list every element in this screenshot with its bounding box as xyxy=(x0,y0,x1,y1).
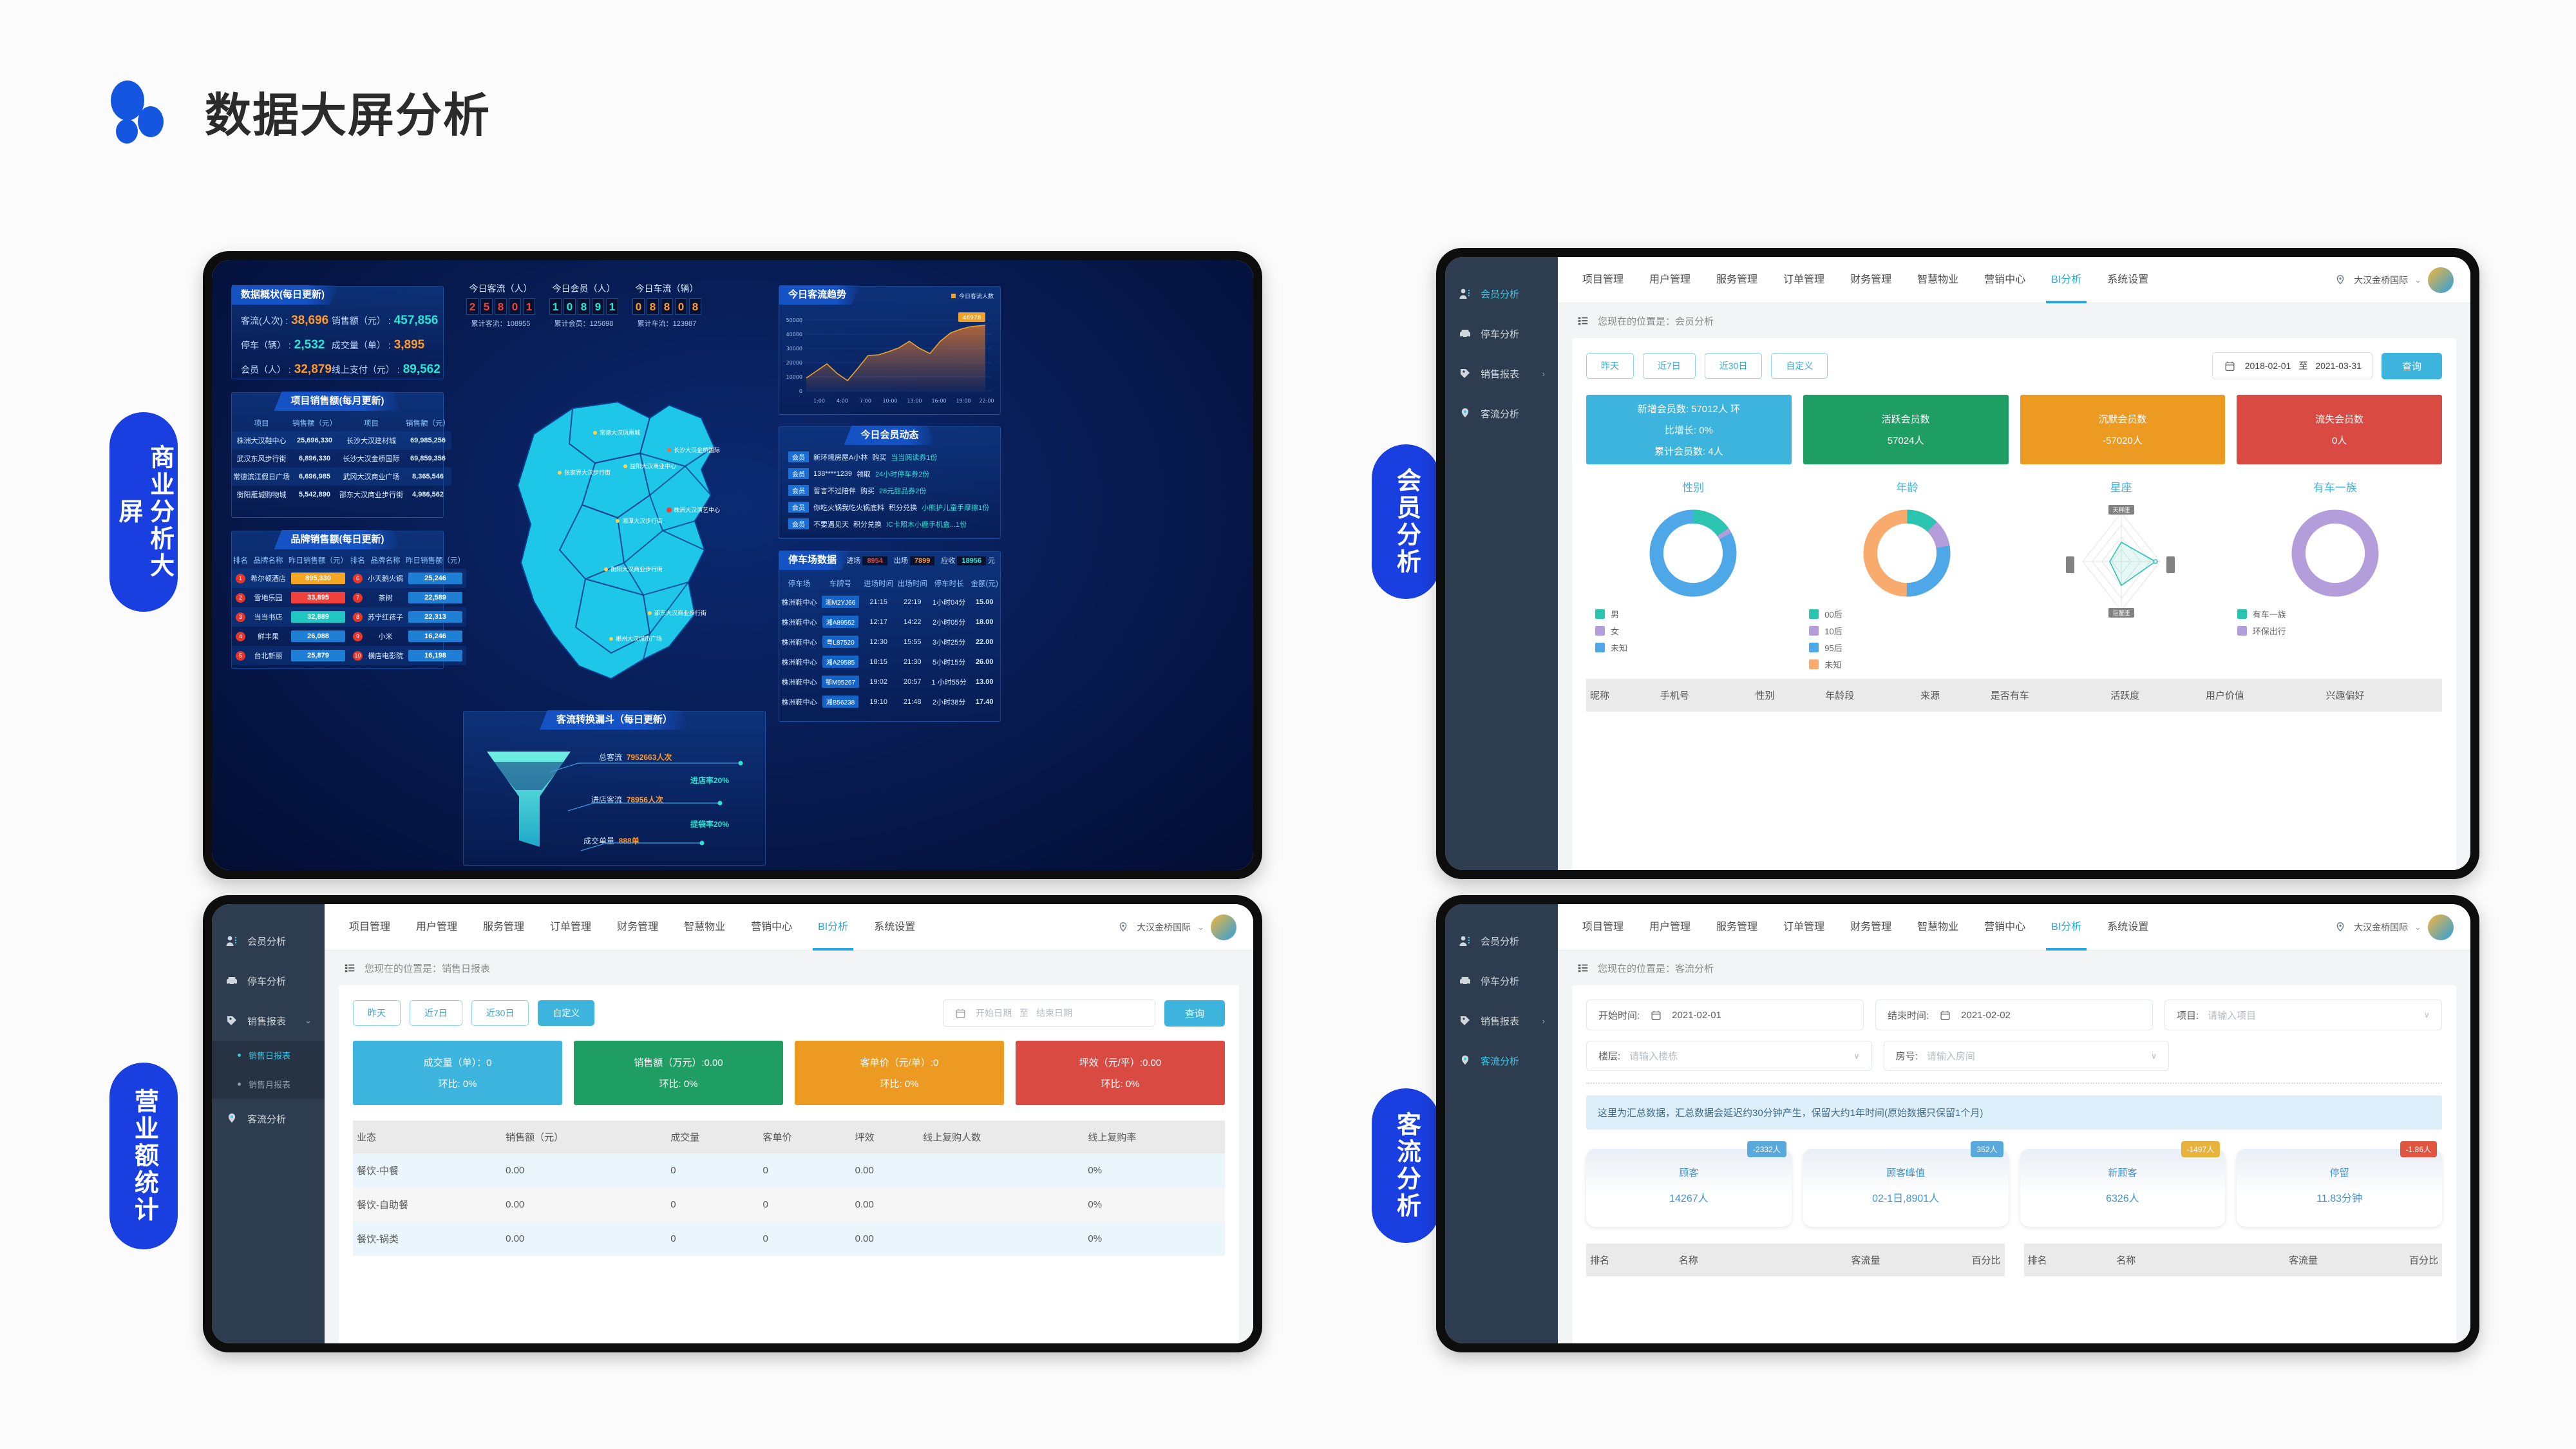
table-row: 株洲鞋中心湘M2YJ6621:1522:191小时04分15.00 xyxy=(779,592,1000,612)
stat-card-sales-amount: 销售额（万元）:0.00 环比: 0% xyxy=(574,1041,783,1105)
nav-item-project[interactable]: 项目管理 xyxy=(336,904,403,951)
bi-funnel-title: 客流转换漏斗（每日更新） xyxy=(540,710,689,730)
stat-card-active-members: 活跃会员数 57024人 xyxy=(1803,395,2009,464)
svg-text:益阳大汉商业中心: 益阳大汉商业中心 xyxy=(630,462,676,470)
chevron-down-icon: ∨ xyxy=(1853,1051,1860,1061)
range-button-30days[interactable]: 近30日 xyxy=(471,1000,529,1026)
svg-text:10000: 10000 xyxy=(786,374,802,380)
parking-table: 停车场车牌号进场时间 出场时间停车时长金额(元) 株洲鞋中心湘M2YJ6621:… xyxy=(779,575,1000,712)
stat-card-lost-members: 流失会员数 0人 xyxy=(2237,395,2442,464)
breadcrumb-text: 您现在的位置是：客流分析 xyxy=(1598,961,1714,975)
project-sales-table: 项目 销售额（元） 项目 销售额（元） 株洲大汉鞋中心25,696,330长沙大… xyxy=(232,415,451,504)
page-title: 数据大屏分析 xyxy=(205,77,491,145)
bi-project-sales-card: 项目销售额(每月更新) 项目 销售额（元） 项目 销售额（元） 株洲大汉鞋中心2… xyxy=(231,392,444,518)
sales-report-screen: 会员分析 停车分析 销售报表 ⌄ 销售日报表 xyxy=(212,904,1253,1343)
bi-overview-title: 数据概状(每日更新) xyxy=(232,285,339,305)
nav-item-user[interactable]: 用户管理 xyxy=(403,904,470,951)
svg-text:30000: 30000 xyxy=(786,346,802,352)
pin-icon xyxy=(1458,406,1472,421)
chevron-down-icon[interactable]: ⌄ xyxy=(2414,922,2421,933)
chip-enter: 进场8954 xyxy=(846,555,889,565)
location-pin-icon xyxy=(1116,920,1130,934)
nav-item-marketing[interactable]: 营销中心 xyxy=(738,904,805,951)
table-row: 株洲鞋中心湘A8956212:1714:222小时05分18.00 xyxy=(779,612,1000,632)
counter-today-vehicles: 今日车流（辆） 08808 累计车流：123987 xyxy=(632,282,701,328)
bi-parking-title: 停车场数据 xyxy=(779,551,851,570)
range-button-yesterday[interactable]: 昨天 xyxy=(1586,353,1634,379)
chevron-down-icon[interactable]: ⌄ xyxy=(1197,922,1204,933)
nav-item-finance[interactable]: 财务管理 xyxy=(1837,257,1904,303)
traffic-rank-table-right: 排名名称 客流量百分比 xyxy=(2024,1244,2443,1276)
sales-topbar: 项目管理 用户管理 服务管理 订单管理 财务管理 智慧物业 营销中心 BI分析 … xyxy=(325,904,1253,951)
sidebar-item-label: 停车分析 xyxy=(1481,974,1519,988)
stat-card-silent-members: 沉默会员数 -57020人 xyxy=(2020,395,2226,464)
chart-car-owner: 有车一族 有车一族 环保出行 xyxy=(2228,478,2442,675)
divider xyxy=(1586,1083,2442,1084)
svg-text:邵东大汉商业步行街: 邵东大汉商业步行街 xyxy=(654,609,706,617)
date-start: 2018-02-01 xyxy=(2245,361,2291,371)
svg-text:46978: 46978 xyxy=(963,315,981,321)
nav-item-project[interactable]: 项目管理 xyxy=(1569,904,1636,951)
list-item: 会员新环境房屋A小林购买当当阅读券1份 xyxy=(788,451,994,462)
counter-today-traffic: 今日客流（人） 25801 累计客流：108955 xyxy=(466,282,535,328)
calendar-icon xyxy=(1649,1008,1663,1022)
calendar-icon xyxy=(1938,1008,1952,1022)
nav-item-order[interactable]: 订单管理 xyxy=(537,904,604,951)
sidebar-item-member-analysis[interactable]: 会员分析 xyxy=(1445,274,1558,314)
tag-icon xyxy=(1458,1014,1472,1028)
nav-item-service[interactable]: 服务管理 xyxy=(1703,904,1770,951)
nav-item-finance[interactable]: 财务管理 xyxy=(1837,904,1904,951)
stat-card-new-members: 新增会员数: 57012人 环 比增长: 0% 累计会员数: 4人 xyxy=(1586,395,1792,464)
table-row: 餐饮-中餐0.00000.000% xyxy=(353,1153,1225,1188)
avatar[interactable] xyxy=(2428,267,2454,293)
list-item: 会员誓言不过陪伴购买28元甜品券2份 xyxy=(788,485,994,496)
side-label-member-analysis: 会员分析 xyxy=(1372,444,1440,599)
list-item: 会员不要遇见天积分兑换IC卡照木小鹿手机盒...1份 xyxy=(788,518,994,529)
kpi-item: 销售额（元） :457,856 xyxy=(332,314,440,328)
chart-constellation: 星座 xyxy=(2014,478,2228,675)
list-icon xyxy=(1576,314,1590,328)
chevron-down-icon: ∨ xyxy=(2151,1051,2157,1061)
bi-funnel-card: 客流转换漏斗（每日更新） 总客流 7952663人次 进店客流 78956人次 … xyxy=(463,711,766,866)
svg-text:22:00: 22:00 xyxy=(979,398,994,404)
list-icon xyxy=(1576,961,1590,975)
table-row: 武汉东风步行街6,896,330长沙大汉金桥国际69,859,356 xyxy=(232,450,451,468)
calendar-icon xyxy=(2223,359,2237,373)
bi-counters: 今日客流（人） 25801 累计客流：108955 今日会员（人） 10891 … xyxy=(466,282,701,328)
nav-item-system-settings[interactable]: 系统设置 xyxy=(861,904,928,951)
range-button-custom[interactable]: 自定义 xyxy=(538,1000,594,1026)
project-name: 大汉金桥国际 xyxy=(2354,274,2408,287)
nav-item-bi-analysis[interactable]: BI分析 xyxy=(805,904,861,951)
bullet-icon xyxy=(238,1054,241,1057)
bi-member-feed-card: 今日会员动态 会员新环境房屋A小林购买当当阅读券1份 会员138****1239… xyxy=(779,426,1001,539)
svg-text:衡阳大汉商业步行街: 衡阳大汉商业步行街 xyxy=(611,565,663,573)
sidebar-item-sales-report[interactable]: 销售报表 ⌄ xyxy=(212,1001,325,1041)
svg-text:长沙大汉金桥国际: 长沙大汉金桥国际 xyxy=(674,446,720,454)
nav-item-finance[interactable]: 财务管理 xyxy=(604,904,671,951)
sidebar-item-label: 销售报表 xyxy=(1481,367,1519,381)
range-button-30days[interactable]: 近30日 xyxy=(1705,353,1763,379)
traffic-trend-chart: 500004000030000 20000100000 46978 1:004:… xyxy=(779,311,1001,414)
kpi-item: 成交量（单） :3,895 xyxy=(332,338,440,352)
svg-text:10:00: 10:00 xyxy=(882,398,897,404)
svg-text:巨蟹座: 巨蟹座 xyxy=(2112,609,2130,617)
svg-text:张家界大汉步行街: 张家界大汉步行街 xyxy=(564,469,611,477)
date-end-placeholder: 结束日期 xyxy=(1036,1007,1072,1019)
nav-item-service[interactable]: 服务管理 xyxy=(1703,257,1770,303)
chevron-down-icon: ⌄ xyxy=(305,1016,312,1026)
sidebar-item-sales-report[interactable]: 销售报表 › xyxy=(1445,354,1558,393)
nav-item-bi-analysis[interactable]: BI分析 xyxy=(2038,904,2094,951)
sidebar-item-label: 销售报表 xyxy=(247,1014,286,1028)
room-placeholder: 请输入房间 xyxy=(1927,1049,1975,1063)
device-frame-bi-dashboard: 数据概状(每日更新) 客流(人次) :38,696 销售额（元） :457,85… xyxy=(203,251,1262,879)
age-donut-chart xyxy=(1859,505,1955,601)
brand-sales-table: 排名品牌名称昨日销售额（元） 排名品牌名称昨日销售额（元） 1希尔顿酒店895,… xyxy=(232,552,466,665)
sidebar-item-label: 会员分析 xyxy=(1481,287,1519,301)
nav-item-project[interactable]: 项目管理 xyxy=(1569,257,1636,303)
traffic-breadcrumb: 您现在的位置是：客流分析 xyxy=(1558,951,2470,985)
bi-overview-kpis: 客流(人次) :38,696 销售额（元） :457,856 停车（辆） :2,… xyxy=(241,314,437,377)
sales-stat-cards: 成交量（单）：0 环比: 0% 销售额（万元）:0.00 环比: 0% 客单价（… xyxy=(353,1041,1225,1105)
range-button-yesterday[interactable]: 昨天 xyxy=(353,1000,401,1026)
date-start-placeholder: 开始日期 xyxy=(976,1007,1012,1019)
nav-item-system-settings[interactable]: 系统设置 xyxy=(2094,904,2161,951)
svg-text:湘潭大汉步行街: 湘潭大汉步行街 xyxy=(622,517,663,525)
bi-traffic-trend-card: 今日客流趋势 今日客流人数 500004000030000 2000010000… xyxy=(779,286,1001,415)
car-icon xyxy=(1458,327,1472,341)
badge-delta: -1497人 xyxy=(2181,1141,2221,1157)
avatar[interactable] xyxy=(1211,914,1236,940)
member-card: 昨天 近7日 近30日 自定义 2018-02-01 至 202 xyxy=(1572,338,2456,870)
kpi-card-customers: -2332人 顾客 14267人 xyxy=(1586,1149,1792,1227)
province-map[interactable]: 常德大汉凤凰城 张家界大汉步行街 益阳大汉商业中心 长沙大汉金桥国际 湘潭大汉步… xyxy=(457,357,766,705)
page-header: 数据大屏分析 xyxy=(109,77,491,145)
table-row: 常德滨江假日广场6,696,985武冈大汉商业广场8,365,546 xyxy=(232,468,451,486)
filter-room[interactable]: 房号: 请输入房间 ∨ xyxy=(1884,1041,2170,1071)
range-button-custom[interactable]: 自定义 xyxy=(1771,353,1828,379)
sales-sidebar: 会员分析 停车分析 销售报表 ⌄ 销售日报表 xyxy=(212,904,325,1343)
bi-project-sales-title: 项目销售额(每月更新) xyxy=(274,392,401,411)
nav-item-property[interactable]: 智慧物业 xyxy=(1904,257,1971,303)
nav-item-user[interactable]: 用户管理 xyxy=(1636,904,1703,951)
table-row: 餐饮-自助餐0.00000.000% xyxy=(353,1188,1225,1222)
range-button-7days[interactable]: 近7日 xyxy=(1643,353,1696,379)
member-sidebar: 会员分析 停车分析 销售报表 › 客流分析 xyxy=(1445,257,1558,870)
submenu-item-daily-sales[interactable]: 销售日报表 xyxy=(212,1041,325,1070)
breadcrumb-text: 您现在的位置是：会员分析 xyxy=(1598,314,1714,328)
chip-exit: 出场7899 xyxy=(894,555,936,565)
sidebar-item-sales-report[interactable]: 销售报表 › xyxy=(1445,1001,1558,1041)
location-pin-icon xyxy=(2333,920,2347,934)
kpi-item: 会员（人） :32,879 xyxy=(241,363,332,377)
svg-text:天秤座: 天秤座 xyxy=(2112,506,2130,514)
filter-floor[interactable]: 楼层: 请输入楼栋 ∨ xyxy=(1586,1041,1872,1071)
chevron-right-icon: › xyxy=(1542,369,1545,379)
kpi-card-new-customers: -1497人 新顾客 6326人 xyxy=(2020,1149,2226,1227)
range-button-7days[interactable]: 近7日 xyxy=(410,1000,462,1026)
svg-text:7:00: 7:00 xyxy=(860,398,871,404)
stat-card-sqm-efficiency: 坪效（元/平）:0.00 环比: 0% xyxy=(1016,1041,1225,1105)
svg-text:0: 0 xyxy=(799,388,802,394)
nav-item-marketing[interactable]: 营销中心 xyxy=(1971,257,2038,303)
project-name: 大汉金桥国际 xyxy=(2354,921,2408,934)
sidebar-item-label: 会员分析 xyxy=(1481,934,1519,948)
side-label-bi-dashboard: 商业分析大屏 xyxy=(109,412,178,612)
bi-parking-card: 停车场数据 进场8954 出场7899 应收18956元 停车场车牌号进场时间 … xyxy=(779,551,1001,722)
svg-text:株洲大汉演艺中心: 株洲大汉演艺中心 xyxy=(674,506,720,514)
nav-item-order[interactable]: 订单管理 xyxy=(1770,904,1837,951)
chevron-down-icon[interactable]: ⌄ xyxy=(2414,275,2421,285)
member-topbar: 项目管理 用户管理 服务管理 订单管理 财务管理 智慧物业 营销中心 BI分析 … xyxy=(1558,257,2470,303)
rank-badge: 1 xyxy=(236,574,245,583)
sales-card: 昨天 近7日 近30日 自定义 开始日期 至 结束日期 xyxy=(339,985,1239,1343)
side-label-sales-stats: 营业额统计 xyxy=(109,1063,178,1249)
table-row: 株洲鞋中心鄂M9526719:0220:571 小时55分13.00 xyxy=(779,672,1000,692)
car-icon xyxy=(1458,974,1472,988)
counter-today-members: 今日会员（人） 10891 累计会员：125698 xyxy=(549,282,618,328)
gender-donut-chart xyxy=(1645,505,1741,601)
filter-end-time[interactable]: 结束时间: 2021-02-02 xyxy=(1875,999,2153,1030)
chevron-right-icon: › xyxy=(1542,1016,1545,1026)
nav-item-marketing[interactable]: 营销中心 xyxy=(1971,904,2038,951)
chart-gender: 性别 男 女 未知 xyxy=(1586,478,1800,675)
badge-delta: -1.86人 xyxy=(2400,1141,2437,1157)
date-separator: 至 xyxy=(1019,1007,1028,1019)
bi-brand-sales-card: 品牌销售额(每日更新) 排名品牌名称昨日销售额（元） 排名品牌名称昨日销售额（元… xyxy=(231,531,444,669)
table-row: 衡阳雁城购物城5,542,890邵东大汉商业步行街4,986,562 xyxy=(232,486,451,504)
funnel-connector-lines xyxy=(547,744,760,860)
sidebar-item-label: 停车分析 xyxy=(1481,327,1519,341)
age-legend: 00后 10后 95后 未知 xyxy=(1800,608,1842,675)
nav-item-property[interactable]: 智慧物业 xyxy=(1904,904,1971,951)
member-stat-cards: 新增会员数: 57012人 环 比增长: 0% 累计会员数: 4人 活跃会员数 … xyxy=(1586,395,2442,464)
badge-delta: 352人 xyxy=(1971,1141,2003,1157)
member-icon xyxy=(225,934,239,948)
table-row: 株洲鞋中心粤L8752012:3015:553小时25分22.00 xyxy=(779,632,1000,652)
kpi-item: 线上支付（元） :89,562 xyxy=(332,363,440,377)
sidebar-item-label: 客流分析 xyxy=(247,1112,286,1126)
traffic-kpi-cards: -2332人 顾客 14267人 352人 顾客峰值 02-1日,8901人 -… xyxy=(1586,1149,2442,1227)
member-icon xyxy=(1458,934,1472,948)
svg-text:40000: 40000 xyxy=(786,332,802,337)
bi-traffic-trend-title: 今日客流趋势 xyxy=(779,285,860,305)
query-button[interactable]: 查询 xyxy=(1164,1000,1225,1027)
car-owner-legend: 有车一族 环保出行 xyxy=(2228,608,2286,641)
sidebar-item-parking-analysis[interactable]: 停车分析 xyxy=(212,961,325,1001)
sidebar-item-member-analysis[interactable]: 会员分析 xyxy=(212,921,325,961)
table-row: 1希尔顿酒店895,3306小天鹅火锅25,246 xyxy=(232,569,466,588)
query-button[interactable]: 查询 xyxy=(2382,353,2442,379)
chevron-down-icon: ∨ xyxy=(2423,1010,2430,1020)
side-label-traffic-analysis: 客流分析 xyxy=(1372,1088,1440,1243)
breadcrumb-text: 您现在的位置是：销售日报表 xyxy=(365,961,490,975)
member-table: 昵称手机号性别 年龄段来源是否有车 活跃度用户价值兴趣偏好 xyxy=(1586,679,2442,712)
svg-text:20000: 20000 xyxy=(786,360,802,366)
sidebar-item-member-analysis[interactable]: 会员分析 xyxy=(1445,921,1558,961)
submenu-item-monthly-sales[interactable]: 销售月报表 xyxy=(212,1070,325,1099)
table-row: 株洲鞋中心湘B5623819:1021:482小时38分17.40 xyxy=(779,692,1000,712)
sidebar-item-traffic-analysis[interactable]: 客流分析 xyxy=(212,1099,325,1139)
chip-revenue: 应收18956元 xyxy=(941,555,995,565)
svg-text:13:00: 13:00 xyxy=(907,398,922,404)
start-time-value: 2021-02-01 xyxy=(1672,1010,1721,1021)
avatar[interactable] xyxy=(2428,914,2454,940)
traffic-analysis-screen: 会员分析 停车分析 销售报表 › 客流分析 项目管理 xyxy=(1445,904,2470,1343)
date-end: 2021-03-31 xyxy=(2315,361,2362,371)
table-row: 株洲鞋中心湘A2958518:1521:305小时15分26.00 xyxy=(779,652,1000,672)
table-row: 5台北新丽25,87910横店电影院16,198 xyxy=(232,646,466,665)
sidebar-item-parking-analysis[interactable]: 停车分析 xyxy=(1445,314,1558,354)
bi-overview-card: 数据概状(每日更新) 客流(人次) :38,696 销售额（元） :457,85… xyxy=(231,286,444,379)
car-owner-donut-chart xyxy=(2287,505,2383,601)
end-time-value: 2021-02-02 xyxy=(1961,1010,2011,1021)
traffic-rank-table-left: 排名名称 客流量百分比 xyxy=(1586,1244,2005,1276)
member-icon xyxy=(1458,287,1472,301)
sidebar-item-parking-analysis[interactable]: 停车分析 xyxy=(1445,961,1558,1001)
member-range-buttons: 昨天 近7日 近30日 自定义 xyxy=(1586,353,1828,379)
nav-item-order[interactable]: 订单管理 xyxy=(1770,257,1837,303)
kpi-item: 客流(人次) :38,696 xyxy=(241,314,332,328)
parking-chips: 进场8954 出场7899 应收18956元 xyxy=(846,555,995,565)
svg-text:19:00: 19:00 xyxy=(956,398,971,404)
sidebar-item-label: 销售报表 xyxy=(1481,1014,1519,1028)
sales-date-range[interactable]: 开始日期 至 结束日期 xyxy=(943,999,1155,1027)
svg-text:16:00: 16:00 xyxy=(931,398,946,404)
car-icon xyxy=(225,974,239,988)
sidebar-item-label: 客流分析 xyxy=(1481,1054,1519,1068)
gender-legend: 男 女 未知 xyxy=(1586,608,1627,658)
list-item: 会员你吃火锅我吃火锅底料积分兑换小熊护儿童手摩擦1份 xyxy=(788,502,994,513)
kpi-card-dwell: -1.86人 停留 11.83分钟 xyxy=(2237,1149,2442,1227)
project-placeholder: 请输入项目 xyxy=(2208,1009,2256,1022)
info-note: 这里为汇总数据，汇总数据会延迟约30分钟产生，保留大约1年时间(原始数据只保留1… xyxy=(1586,1095,2442,1130)
list-item: 会员138****1239领取24小时停车券2份 xyxy=(788,468,994,479)
table-row: 3当当书店32,8898苏宁红孩子22,313 xyxy=(232,607,466,627)
bi-dashboard-screen: 数据概状(每日更新) 客流(人次) :38,696 销售额（元） :457,85… xyxy=(212,260,1253,870)
tag-icon xyxy=(1458,366,1472,381)
svg-text:1:00: 1:00 xyxy=(813,398,825,404)
member-date-range[interactable]: 2018-02-01 至 2021-03-31 xyxy=(2212,352,2372,379)
sales-submenu: 销售日报表 销售月报表 xyxy=(212,1041,325,1099)
project-name: 大汉金桥国际 xyxy=(1137,921,1191,934)
chart-legend: 今日客流人数 xyxy=(951,292,994,300)
traffic-topbar: 项目管理 用户管理 服务管理 订单管理 财务管理 智慧物业 营销中心 BI分析 … xyxy=(1558,904,2470,951)
table-row: 2雪地乐园33,8957茶树22,589 xyxy=(232,588,466,607)
kpi-card-peak: 352人 顾客峰值 02-1日,8901人 xyxy=(1803,1149,2009,1227)
floor-placeholder: 请输入楼栋 xyxy=(1629,1049,1678,1063)
nav-item-bi-analysis[interactable]: BI分析 xyxy=(2038,257,2094,303)
stat-card-orders: 成交量（单）：0 环比: 0% xyxy=(353,1041,562,1105)
list-icon xyxy=(343,961,357,975)
sidebar-item-label: 停车分析 xyxy=(247,974,286,988)
sales-breadcrumb: 您现在的位置是：销售日报表 xyxy=(325,951,1253,985)
filter-start-time[interactable]: 开始时间: 2021-02-01 xyxy=(1586,999,1864,1030)
kpi-item: 停车（辆） :2,532 xyxy=(241,338,332,352)
date-separator: 至 xyxy=(2298,359,2307,372)
pin-icon xyxy=(225,1112,239,1126)
bullet-icon xyxy=(238,1083,241,1086)
member-analysis-screen: 会员分析 停车分析 销售报表 › 客流分析 项目管理 xyxy=(1445,257,2470,870)
sidebar-item-traffic-analysis[interactable]: 客流分析 xyxy=(1445,1041,1558,1081)
nav-item-property[interactable]: 智慧物业 xyxy=(671,904,738,951)
nav-item-user[interactable]: 用户管理 xyxy=(1636,257,1703,303)
calendar-icon xyxy=(954,1006,968,1020)
svg-text:4:00: 4:00 xyxy=(837,398,848,404)
svg-text:50000: 50000 xyxy=(786,317,802,323)
device-frame-member-analysis: 会员分析 停车分析 销售报表 › 客流分析 项目管理 xyxy=(1436,248,2479,879)
sales-table: 业态销售额（元）成交量 客单价坪效线上复购人数线上复购率 餐饮-中餐0.0000… xyxy=(353,1121,1225,1256)
bi-brand-sales-title: 品牌销售额(每日更新) xyxy=(274,530,401,549)
sidebar-item-label: 客流分析 xyxy=(1481,407,1519,421)
sales-range-buttons: 昨天 近7日 近30日 自定义 xyxy=(353,1000,594,1026)
table-row: 4鲜丰果26,0889小米16,246 xyxy=(232,627,466,646)
sidebar-item-traffic-analysis[interactable]: 客流分析 xyxy=(1445,393,1558,433)
traffic-card: 开始时间: 2021-02-01 结束时间: 2021-02-02 项目: xyxy=(1572,985,2456,1343)
bi-member-feed-title: 今日会员动态 xyxy=(844,426,935,445)
svg-text:郴州大汉城市广场: 郴州大汉城市广场 xyxy=(616,635,662,643)
traffic-sidebar: 会员分析 停车分析 销售报表 › 客流分析 xyxy=(1445,904,1558,1343)
chart-age: 年龄 00后 10后 95后 xyxy=(1800,478,2014,675)
constellation-radar-chart: 天秤座 巨蟹座 xyxy=(2063,505,2179,618)
three-dots-logo-icon xyxy=(109,79,174,144)
badge-delta: -2332人 xyxy=(1747,1141,1786,1157)
filter-project[interactable]: 项目: 请输入项目 ∨ xyxy=(2164,999,2442,1030)
member-breadcrumb: 您现在的位置是：会员分析 xyxy=(1558,303,2470,338)
member-charts: 性别 男 女 未知 xyxy=(1586,478,2442,675)
svg-text:常德大汉凤凰城: 常德大汉凤凰城 xyxy=(600,429,640,437)
nav-item-system-settings[interactable]: 系统设置 xyxy=(2094,257,2161,303)
device-frame-traffic-analysis: 会员分析 停车分析 销售报表 › 客流分析 项目管理 xyxy=(1436,895,2479,1352)
location-pin-icon xyxy=(2333,273,2347,287)
device-frame-sales-report: 会员分析 停车分析 销售报表 ⌄ 销售日报表 xyxy=(203,895,1262,1352)
tag-icon xyxy=(225,1014,239,1028)
table-row: 餐饮-锅类0.00000.000% xyxy=(353,1222,1225,1256)
sidebar-item-label: 会员分析 xyxy=(247,934,286,948)
nav-item-service[interactable]: 服务管理 xyxy=(470,904,537,951)
pin-icon xyxy=(1458,1054,1472,1068)
table-row: 株洲大汉鞋中心25,696,330长沙大汉建材城69,985,256 xyxy=(232,431,451,450)
stat-card-avg-price: 客单价（元/单）:0 环比: 0% xyxy=(795,1041,1004,1105)
